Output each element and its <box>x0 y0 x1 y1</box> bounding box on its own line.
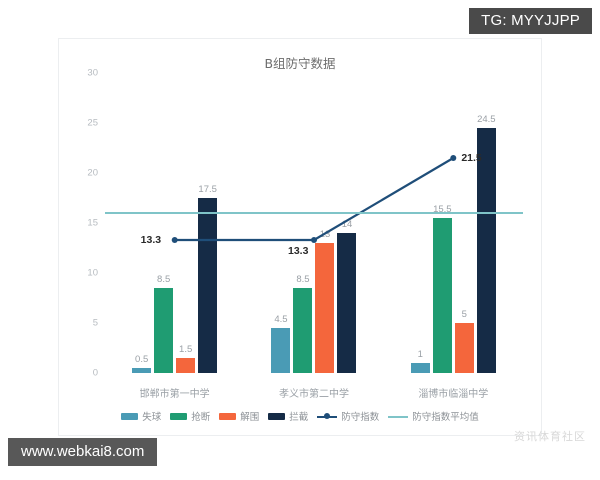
y-axis-tick-label: 0 <box>93 368 98 379</box>
y-axis-tick-label: 30 <box>87 68 98 79</box>
x-axis-category-label: 邯郸市第一中学 <box>140 385 210 400</box>
bar-value-label: 14 <box>342 219 353 230</box>
bar-item[interactable]: 14 <box>337 233 356 373</box>
x-axis-category-label: 孝义市第二中学 <box>279 385 349 400</box>
bar-value-label: 8.5 <box>157 274 170 285</box>
bar-item[interactable]: 5 <box>455 323 474 373</box>
bar-item[interactable]: 0.5 <box>132 368 151 373</box>
bar-value-label: 0.5 <box>135 354 148 365</box>
bar-group: 0.58.51.517.5邯郸市第一中学 <box>105 73 244 373</box>
legend-swatch-icon <box>170 413 187 420</box>
bar-item[interactable]: 17.5 <box>198 198 217 373</box>
legend-label: 拦截 <box>289 409 308 423</box>
legend-item[interactable]: 抢断 <box>170 409 210 423</box>
bar-group: 115.5524.5淄博市临淄中学 <box>384 73 523 373</box>
bar-value-label: 1 <box>418 349 423 360</box>
bar-rect[interactable] <box>477 128 496 373</box>
legend-label: 防守指数平均值 <box>412 409 479 423</box>
bar-item[interactable]: 8.5 <box>154 288 173 373</box>
bar-rect[interactable] <box>337 233 356 373</box>
legend-label: 防守指数 <box>341 409 379 423</box>
y-axis-tick-label: 20 <box>87 168 98 179</box>
bar-rect[interactable] <box>433 218 452 373</box>
bar-rect[interactable] <box>293 288 312 373</box>
screenshot-root: TG: MYYJJPP B组防守数据 0510152025300.58.51.5… <box>0 0 600 480</box>
bar-item[interactable]: 8.5 <box>293 288 312 373</box>
legend-item[interactable]: 失球 <box>121 409 161 423</box>
chart-title: B组防守数据 <box>59 53 541 72</box>
legend-swatch-icon <box>121 413 138 420</box>
bar-value-label: 5 <box>462 309 467 320</box>
bar-rect[interactable] <box>132 368 151 373</box>
bar-rect[interactable] <box>176 358 195 373</box>
bar-group-bars: 115.5524.5 <box>384 73 523 373</box>
plot-area: 0510152025300.58.51.517.5邯郸市第一中学4.58.513… <box>105 73 523 373</box>
bar-group: 4.58.51314孝义市第二中学 <box>244 73 383 373</box>
cn-site-watermark: 资讯体育社区 <box>514 428 586 444</box>
bar-item[interactable]: 15.5 <box>433 218 452 373</box>
legend-label: 抢断 <box>191 409 210 423</box>
bar-rect[interactable] <box>411 363 430 373</box>
x-axis-category-label: 淄博市临淄中学 <box>418 385 488 400</box>
telegram-watermark-badge: TG: MYYJJPP <box>469 8 592 34</box>
legend-label: 失球 <box>142 409 161 423</box>
bar-item[interactable]: 4.5 <box>271 328 290 373</box>
y-axis-tick-label: 25 <box>87 118 98 129</box>
bar-rect[interactable] <box>198 198 217 373</box>
legend-item[interactable]: 防守指数 <box>317 409 379 423</box>
site-url-watermark: www.webkai8.com <box>8 438 157 466</box>
legend-item[interactable]: 解围 <box>219 409 259 423</box>
bar-rect[interactable] <box>154 288 173 373</box>
bar-rect[interactable] <box>315 243 334 373</box>
bar-value-label: 13 <box>320 229 331 240</box>
legend-line-icon <box>317 412 337 421</box>
bar-value-label: 4.5 <box>274 314 287 325</box>
bar-value-label: 1.5 <box>179 344 192 355</box>
chart-legend: 失球抢断解围拦截防守指数防守指数平均值 <box>59 409 541 423</box>
y-axis-tick-label: 5 <box>93 318 98 329</box>
y-axis-tick-label: 10 <box>87 268 98 279</box>
line-point-value-label: 21.5 <box>461 152 481 164</box>
bar-rect[interactable] <box>455 323 474 373</box>
legend-item[interactable]: 拦截 <box>268 409 308 423</box>
legend-swatch-icon <box>268 413 285 420</box>
bar-item[interactable]: 24.5 <box>477 128 496 373</box>
bar-value-label: 15.5 <box>433 204 452 215</box>
line-point-value-label: 13.3 <box>288 245 308 257</box>
bar-item[interactable]: 1 <box>411 363 430 373</box>
bar-value-label: 24.5 <box>477 114 496 125</box>
y-axis-tick-label: 15 <box>87 218 98 229</box>
bar-item[interactable]: 1.5 <box>176 358 195 373</box>
legend-item[interactable]: 防守指数平均值 <box>388 409 479 423</box>
bar-value-label: 17.5 <box>198 184 217 195</box>
bar-rect[interactable] <box>271 328 290 373</box>
bar-group-bars: 4.58.51314 <box>244 73 383 373</box>
bar-value-label: 8.5 <box>296 274 309 285</box>
legend-label: 解围 <box>240 409 259 423</box>
legend-swatch-icon <box>219 413 236 420</box>
line-point-value-label: 13.3 <box>141 234 161 246</box>
bar-group-bars: 0.58.51.517.5 <box>105 73 244 373</box>
bar-item[interactable]: 13 <box>315 243 334 373</box>
legend-line-icon <box>388 412 408 421</box>
chart-panel: B组防守数据 0510152025300.58.51.517.5邯郸市第一中学4… <box>58 38 542 436</box>
